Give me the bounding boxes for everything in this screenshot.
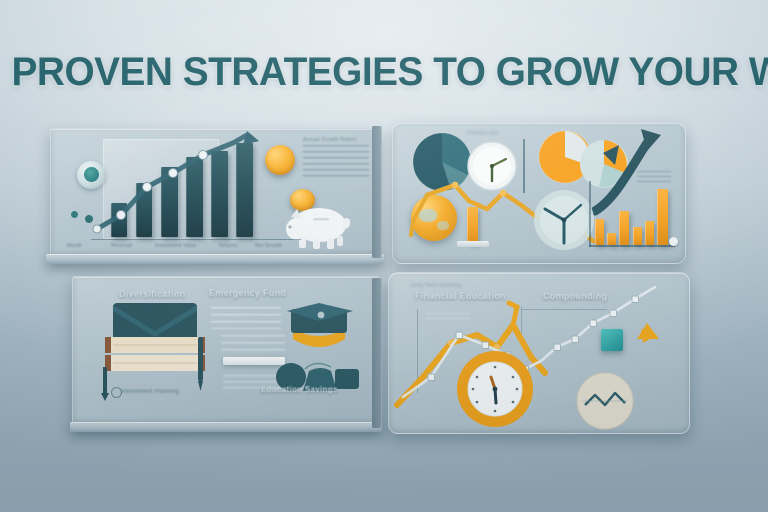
axis-label-2: Revenue <box>111 243 132 250</box>
orange-bar-5 <box>645 221 654 245</box>
panel-note-top: Portfolio Mix <box>467 129 498 135</box>
teal-dot-a-icon <box>71 211 78 218</box>
heading-diversification: Diversification <box>119 289 186 299</box>
heading-emergency-fund: Emergency Fund <box>209 288 286 298</box>
panel-allocation-timing: Portfolio Mix <box>392 122 686 264</box>
panel-note-right <box>637 171 671 183</box>
stacked-books-icon <box>105 335 205 375</box>
teal-token-icon <box>77 161 105 189</box>
orange-bar-2 <box>607 233 616 245</box>
bullet-marker-icon <box>111 387 122 398</box>
axis-label-5: Net Growth <box>255 243 282 250</box>
panel-divider-top <box>372 126 382 258</box>
body-lines-group-2 <box>221 335 285 351</box>
shelf-top-left <box>46 254 384 264</box>
axis-label-1: Month <box>67 243 82 250</box>
shelf-bottom-left <box>70 422 382 432</box>
page-title: PROVEN STRATEGIES TO GROW YOUR WEALTH <box>12 50 757 95</box>
axis-label-3: Investment Value <box>155 243 196 250</box>
panel-compounding-trend: Long Term Investing Financial Education … <box>388 272 690 434</box>
poster-canvas: PROVEN STRATEGIES TO GROW YOUR WEALTH <box>0 0 768 512</box>
panel-divider-bottom <box>372 278 382 428</box>
vertical-pointer <box>523 139 525 193</box>
orange-bar-1 <box>595 219 604 245</box>
pale-clock-icon <box>533 189 595 251</box>
axis-end-node-icon <box>669 237 678 246</box>
pen-icon <box>193 337 207 393</box>
orange-standing-bar <box>467 207 478 243</box>
orange-bars-y-axis <box>589 181 591 247</box>
orange-bar-3 <box>619 211 629 245</box>
bookmark-ribbon-icon <box>99 367 113 401</box>
axis-label-4: Returns <box>219 243 238 250</box>
orange-clock-icon <box>455 349 535 429</box>
side-note-lines <box>303 145 369 179</box>
orange-bars-axis <box>589 245 675 247</box>
orange-bar-6 <box>657 189 668 245</box>
gold-coin-large-icon <box>265 145 295 175</box>
bar-base-plate <box>457 241 489 247</box>
piggy-bank-icon <box>283 201 353 253</box>
caption-education: Education Savings <box>261 385 338 394</box>
body-lines-group-1 <box>211 307 281 329</box>
x-axis-line <box>91 239 301 240</box>
beige-clock-icon <box>575 371 635 431</box>
panel-growth-bar-chart: Annual Growth Report Month Revenue Inves… <box>50 128 382 258</box>
teal-dot-b-icon <box>85 215 93 223</box>
panel-education-planning: Diversification Emergency Fund <box>72 276 380 426</box>
orange-marker-icon <box>635 321 661 343</box>
teal-cube-icon <box>601 329 623 351</box>
caption-retirement: Retirement Planning <box>121 389 179 396</box>
graduation-cap-icon <box>281 303 359 353</box>
side-note-line-1: Annual Growth Report <box>303 137 356 144</box>
orange-bar-4 <box>633 227 642 245</box>
white-line-chart <box>389 273 689 433</box>
